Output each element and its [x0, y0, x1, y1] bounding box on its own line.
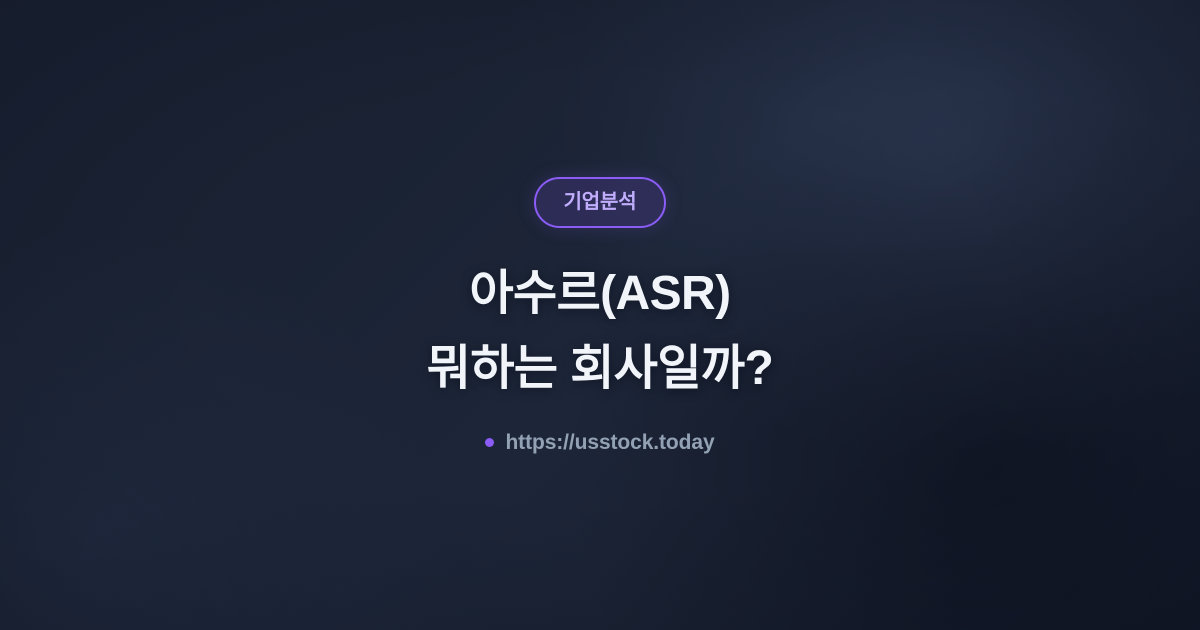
- og-share-card: 기업분석 아수르(ASR) 뭐하는 회사일까? https://usstock.…: [0, 0, 1200, 630]
- page-title: 아수르(ASR) 뭐하는 회사일까?: [427, 257, 773, 407]
- page-title-line-2: 뭐하는 회사일까?: [427, 332, 773, 407]
- category-badge-label: 기업분석: [564, 192, 637, 212]
- bullet-dot-icon: [485, 438, 494, 447]
- category-badge: 기업분석: [534, 177, 667, 228]
- site-url-row: https://usstock.today: [485, 432, 714, 453]
- site-url-text: https://usstock.today: [505, 432, 714, 453]
- card-content: 기업분석 아수르(ASR) 뭐하는 회사일까? https://usstock.…: [0, 0, 1200, 630]
- page-title-line-1: 아수르(ASR): [427, 257, 773, 332]
